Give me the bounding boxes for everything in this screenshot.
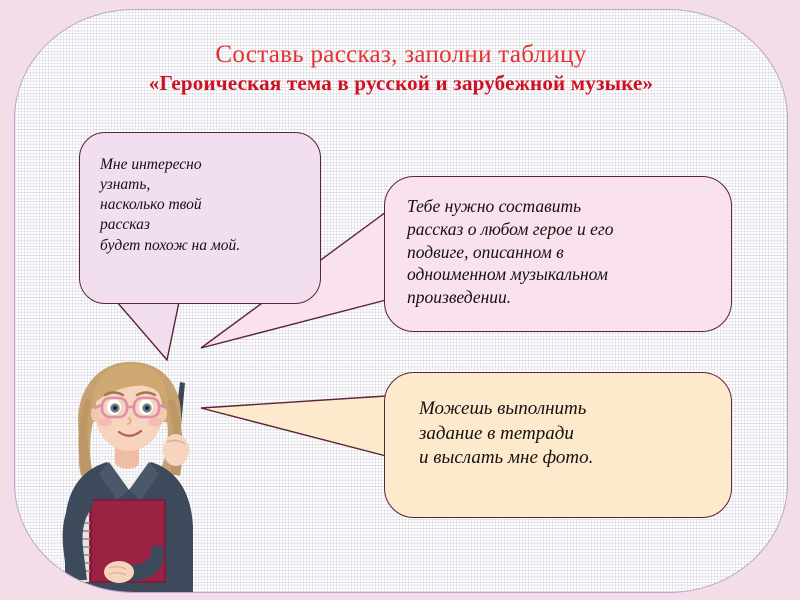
bubble-task-line-0: Тебе нужно составить	[407, 195, 713, 218]
title-line-secondary: «Героическая тема в русской и зарубежной…	[15, 72, 787, 95]
cheek-left	[98, 418, 112, 427]
bubble-notebook-line-2: и выслать мне фото.	[419, 446, 713, 471]
bubble-notebook-line-1: задание в тетради	[419, 422, 713, 447]
teacher-illustration	[43, 350, 243, 592]
bubble-notebook-line-0: Можешь выполнить	[419, 397, 713, 422]
bubble-interest-line-3: рассказ	[100, 215, 304, 235]
hand-raised	[163, 434, 189, 466]
speech-bubble-task: Тебе нужно составить рассказ о любом гер…	[384, 176, 732, 332]
title-line-primary: Составь рассказ, заполни таблицу	[15, 41, 787, 68]
bubble-interest-line-2: насколько твой	[100, 195, 304, 215]
hand-on-book	[104, 561, 134, 583]
bubble-task-line-3: одноименном музыкальном	[407, 263, 713, 286]
bubble-interest-line-4: будет похож на мой.	[100, 236, 304, 256]
bubble-task-line-2: подвиге, описанном в	[407, 241, 713, 264]
bubble-interest-line-0: Мне интересно	[100, 155, 304, 175]
bubble-task-line-1: рассказ о любом герое и его	[407, 218, 713, 241]
bubble-interest-line-1: узнать,	[100, 175, 304, 195]
slide-title: Составь рассказ, заполни таблицу «Героич…	[15, 41, 787, 95]
bubble-task-line-4: произведении.	[407, 286, 713, 309]
speech-bubble-notebook: Можешь выполнить задание в тетради и выс…	[384, 372, 732, 518]
slide-panel: Составь рассказ, заполни таблицу «Героич…	[14, 9, 788, 593]
pupil-left	[113, 406, 117, 410]
speech-bubble-interest: Мне интересно узнать, насколько твой рас…	[79, 132, 321, 304]
pupil-right	[145, 406, 149, 410]
cheek-right	[148, 418, 162, 427]
